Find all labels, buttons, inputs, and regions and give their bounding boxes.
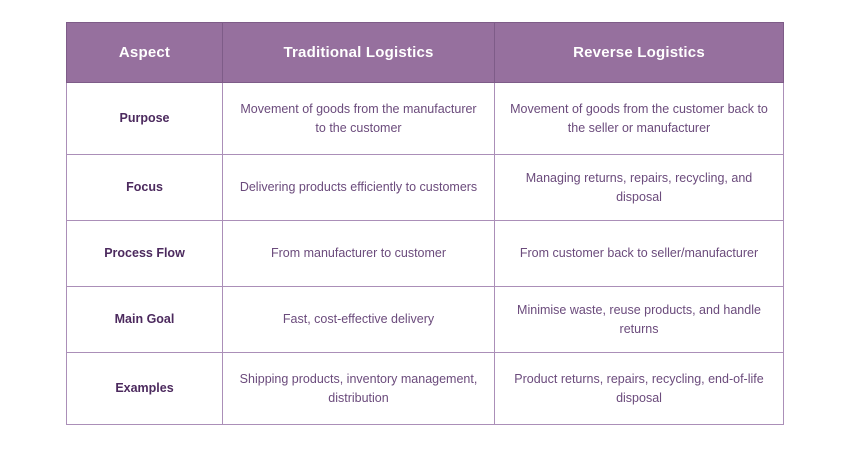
column-header-traditional-logistics: Traditional Logistics xyxy=(223,23,495,83)
cell-reverse-focus: Managing returns, repairs, recycling, an… xyxy=(495,155,784,221)
cell-aspect-process-flow: Process Flow xyxy=(67,221,223,287)
cell-traditional-focus: Delivering products efficiently to custo… xyxy=(223,155,495,221)
cell-aspect-examples: Examples xyxy=(67,353,223,425)
cell-aspect-purpose: Purpose xyxy=(67,83,223,155)
cell-aspect-main-goal: Main Goal xyxy=(67,287,223,353)
table-row: Process Flow From manufacturer to custom… xyxy=(67,221,784,287)
cell-traditional-examples: Shipping products, inventory management,… xyxy=(223,353,495,425)
cell-traditional-process-flow: From manufacturer to customer xyxy=(223,221,495,287)
page-canvas: Aspect Traditional Logistics Reverse Log… xyxy=(0,0,850,450)
cell-reverse-process-flow: From customer back to seller/manufacture… xyxy=(495,221,784,287)
cell-reverse-purpose: Movement of goods from the customer back… xyxy=(495,83,784,155)
cell-aspect-focus: Focus xyxy=(67,155,223,221)
cell-traditional-purpose: Movement of goods from the manufacturer … xyxy=(223,83,495,155)
table-row: Purpose Movement of goods from the manuf… xyxy=(67,83,784,155)
column-header-aspect: Aspect xyxy=(67,23,223,83)
cell-reverse-examples: Product returns, repairs, recycling, end… xyxy=(495,353,784,425)
cell-reverse-main-goal: Minimise waste, reuse products, and hand… xyxy=(495,287,784,353)
table-row: Focus Delivering products efficiently to… xyxy=(67,155,784,221)
logistics-comparison-table: Aspect Traditional Logistics Reverse Log… xyxy=(66,22,784,425)
table-row: Examples Shipping products, inventory ma… xyxy=(67,353,784,425)
table-body: Purpose Movement of goods from the manuf… xyxy=(67,83,784,425)
table-header: Aspect Traditional Logistics Reverse Log… xyxy=(67,23,784,83)
table-row: Main Goal Fast, cost-effective delivery … xyxy=(67,287,784,353)
table-header-row: Aspect Traditional Logistics Reverse Log… xyxy=(67,23,784,83)
cell-traditional-main-goal: Fast, cost-effective delivery xyxy=(223,287,495,353)
column-header-reverse-logistics: Reverse Logistics xyxy=(495,23,784,83)
